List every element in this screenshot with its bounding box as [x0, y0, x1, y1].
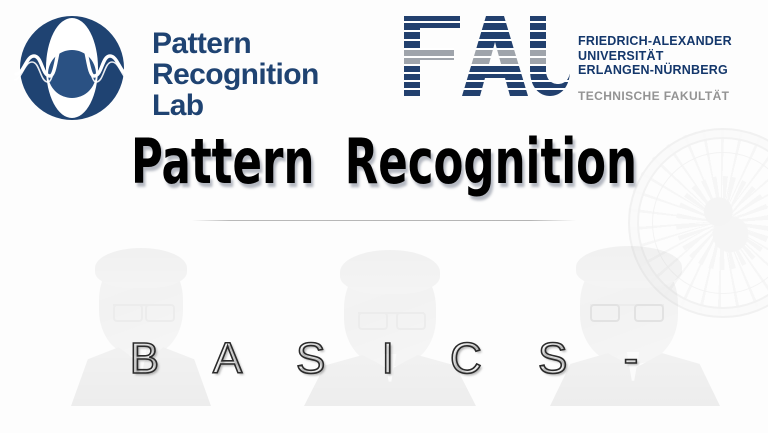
prl-line-3: Lab — [152, 90, 319, 121]
prl-line-1: Pattern — [152, 28, 319, 59]
prl-line-2: Recognition — [152, 59, 319, 90]
fau-logo: FRIEDRICH-ALEXANDER UNIVERSITÄT ERLANGEN… — [402, 14, 768, 118]
fau-name-line-1: FRIEDRICH-ALEXANDER — [578, 34, 732, 49]
page-title: Pattern Recognition — [84, 130, 683, 194]
fau-name-line-2: UNIVERSITÄT — [578, 49, 732, 64]
prl-circle-wave-icon — [14, 12, 136, 124]
fau-striped-wordmark-icon — [402, 14, 572, 98]
prl-wordmark: Pattern Recognition Lab — [152, 28, 319, 121]
title-divider — [192, 220, 576, 221]
subtitle-line-1: B A S I C S - — [0, 332, 768, 385]
subtitle-block: B A S I C S - B A Y E S T H E O R E M — [0, 226, 768, 433]
pattern-recognition-lab-logo: Pattern Recognition Lab — [14, 12, 374, 124]
fau-university-name: FRIEDRICH-ALEXANDER UNIVERSITÄT ERLANGEN… — [578, 34, 732, 78]
slide-canvas: Pattern Recognition Lab — [0, 0, 768, 433]
fau-faculty-label: TECHNISCHE FAKULTÄT — [578, 89, 729, 103]
fau-name-line-3: ERLANGEN-NÜRNBERG — [578, 63, 732, 78]
